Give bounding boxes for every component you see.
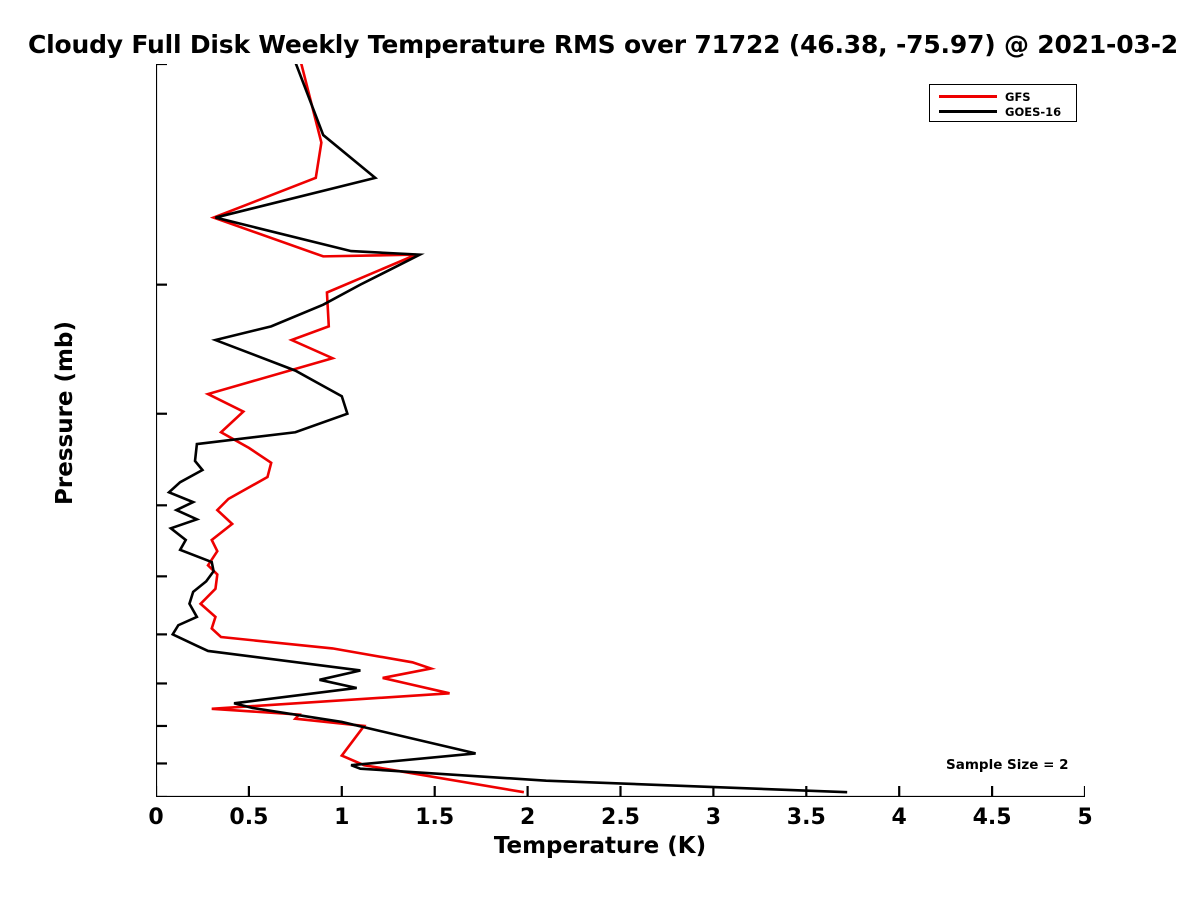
legend-swatch-goes16	[939, 110, 997, 113]
x-tick-label: 4.5	[973, 805, 1012, 830]
x-tick-label: 0	[148, 805, 163, 830]
x-tick-label: 2	[520, 805, 535, 830]
legend-label-goes16: GOES-16	[1005, 105, 1061, 119]
y-axis-label-wrap: Pressure (mb)	[0, 0, 120, 900]
x-tick-label: 1	[334, 805, 349, 830]
x-tick-label: 1.5	[415, 805, 454, 830]
x-tick-label: 0.5	[229, 805, 268, 830]
x-tick-label: 3	[706, 805, 721, 830]
y-axis-label: Pressure (mb)	[52, 303, 78, 523]
x-tick-label: 5	[1077, 805, 1092, 830]
chart-root: Cloudy Full Disk Weekly Temperature RMS …	[0, 0, 1200, 900]
legend-swatch-gfs	[939, 95, 997, 98]
sample-size-annotation: Sample Size = 2	[946, 757, 1069, 773]
x-axis-label: Temperature (K)	[0, 833, 1200, 859]
x-tick-label: 4	[892, 805, 907, 830]
x-tick-label: 3.5	[787, 805, 826, 830]
legend-item-goes16[interactable]: GOES-16	[930, 103, 1076, 120]
legend[interactable]: GFS GOES-16	[929, 84, 1077, 122]
x-tick-label: 2.5	[601, 805, 640, 830]
legend-label-gfs: GFS	[1005, 90, 1031, 104]
